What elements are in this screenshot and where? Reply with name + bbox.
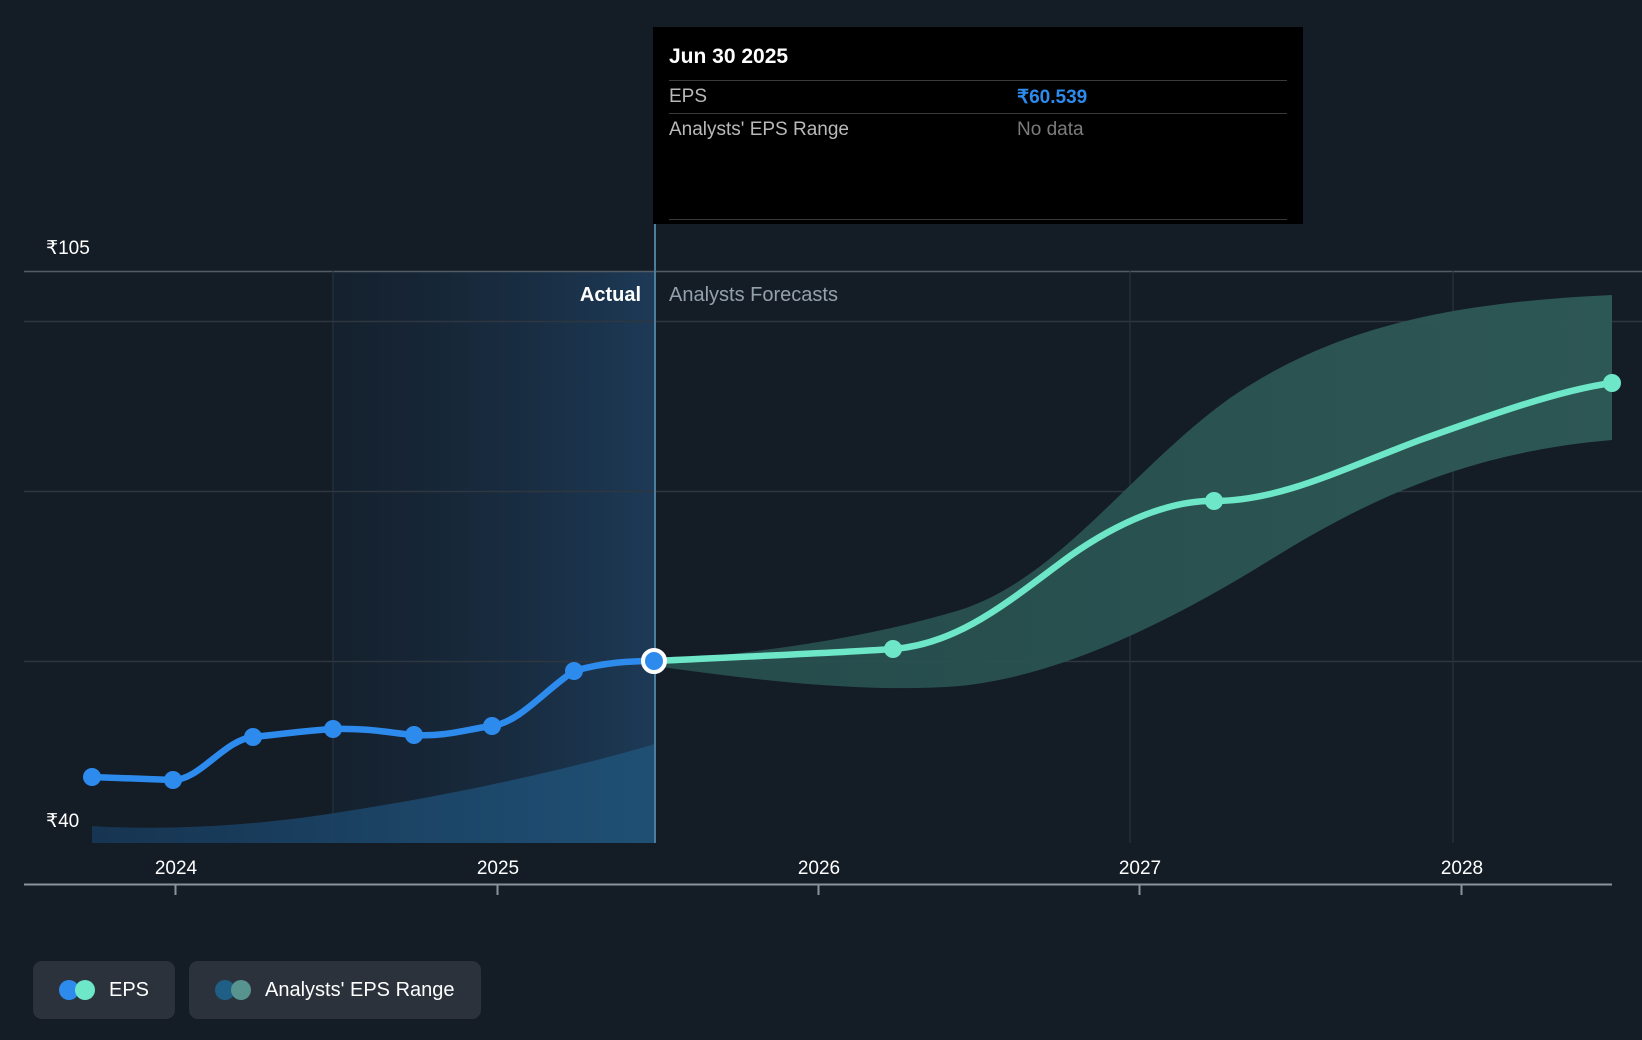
x-axis-label-2026: 2026 — [798, 858, 840, 880]
x-axis-label-2028: 2028 — [1441, 858, 1483, 880]
data-point — [1603, 374, 1621, 392]
data-point — [884, 640, 902, 658]
data-point — [1205, 492, 1223, 510]
x-axis-label-2025: 2025 — [477, 858, 519, 880]
tooltip-key: EPS — [669, 86, 1017, 108]
tooltip-value: No data — [1017, 119, 1084, 141]
x-axis-label-2027: 2027 — [1119, 858, 1161, 880]
legend-swatch-icon — [215, 980, 251, 1000]
legend-item-analysts-range[interactable]: Analysts' EPS Range — [189, 961, 480, 1019]
eps-forecast-chart: Actual Analysts Forecasts ₹105 ₹40 2024 … — [0, 0, 1642, 1040]
legend-label: EPS — [109, 979, 149, 1002]
x-axis-ticks — [176, 884, 1462, 895]
tooltip-row-range: Analysts' EPS Range No data — [669, 113, 1287, 146]
x-axis-label-2024: 2024 — [155, 858, 197, 880]
data-point — [244, 728, 262, 746]
data-point — [565, 662, 583, 680]
region-label-forecast: Analysts Forecasts — [669, 281, 838, 309]
legend-swatch-icon — [59, 980, 95, 1000]
data-point — [483, 717, 501, 735]
data-point — [405, 726, 423, 744]
y-axis-label-bottom: ₹40 — [46, 810, 79, 833]
tooltip-title: Jun 30 2025 — [669, 43, 1287, 80]
legend-label: Analysts' EPS Range — [265, 979, 454, 1002]
y-axis-label-top: ₹105 — [46, 237, 90, 260]
tooltip-key: Analysts' EPS Range — [669, 119, 1017, 141]
chart-tooltip: Jun 30 2025 EPS ₹60.539 Analysts' EPS Ra… — [653, 27, 1303, 224]
data-point — [164, 771, 182, 789]
tooltip-row-eps: EPS ₹60.539 — [669, 80, 1287, 113]
region-label-actual: Actual — [0, 281, 641, 309]
highlighted-data-point — [643, 650, 665, 672]
tooltip-footer-divider — [669, 219, 1287, 220]
actual-region-background — [333, 271, 655, 843]
data-point — [83, 768, 101, 786]
chart-legend: EPS Analysts' EPS Range — [33, 961, 481, 1019]
data-point — [324, 720, 342, 738]
tooltip-value: ₹60.539 — [1017, 86, 1087, 109]
legend-item-eps[interactable]: EPS — [33, 961, 175, 1019]
